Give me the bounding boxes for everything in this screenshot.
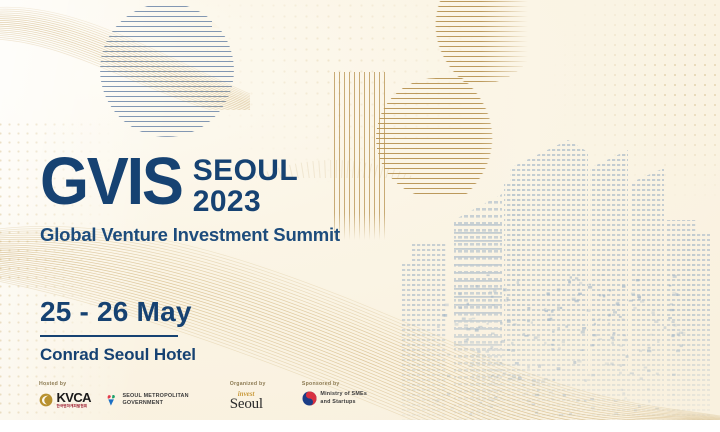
event-dates: 25 - 26 May [40,296,196,328]
event-venue: Conrad Seoul Hotel [40,345,196,365]
headline-block: GVIS SEOUL 2023 Global Venture Investmen… [40,152,340,246]
partner-group-sponsored: Sponsored by Ministry of SMEs and Startu… [302,381,380,406]
kvca-logo: KVCA 한국벤처캐피탈협회 [39,391,91,409]
smg-haechi-icon [104,393,119,407]
seoul-metropolitan-government-logo: SEOUL METROPOLITAN GOVERNMENT [104,393,189,408]
event-city: SEOUL [193,155,298,186]
kvca-wordmark: KVCA [57,391,91,404]
kvca-subtitle: 한국벤처캐피탈협회 [57,405,91,409]
ministry-line-2: and Startups [320,399,367,406]
kvca-swirl-icon [39,393,53,407]
smg-line-2: GOVERNMENT [122,400,188,407]
poster-canvas: GVIS SEOUL 2023 Global Venture Investmen… [0,0,720,420]
partner-group-hosted: Hosted by KVCA 한국벤처캐피탈협회 [39,381,202,409]
partner-strip: Hosted by KVCA 한국벤처캐피탈협회 [39,381,380,412]
event-acronym: GVIS [40,152,182,213]
ministry-of-smes-and-startups-logo: Ministry of SMEs and Startups [302,391,367,406]
event-city-year: SEOUL 2023 [193,155,298,217]
partner-caption-sponsored: Sponsored by [302,381,380,387]
partner-caption-organized: Organized by [230,381,276,387]
event-details-block: 25 - 26 May Conrad Seoul Hotel [40,296,196,365]
taegeuk-icon [302,391,317,406]
event-tagline: Global Venture Investment Summit [40,224,340,246]
smg-line-1: SEOUL METROPOLITAN [122,393,188,400]
partner-caption-hosted: Hosted by [39,381,202,387]
gold-ribbon-waves-top [0,0,260,110]
event-year: 2023 [193,186,298,217]
ministry-line-1: Ministry of SMEs [320,391,367,398]
partner-group-organized: Organized by invest Seoul [230,381,276,412]
gvis-seoul-2023-poster: GVIS SEOUL 2023 Global Venture Investmen… [0,0,720,432]
invest-seoul-wordmark: Seoul [230,397,263,412]
divider-rule [40,335,178,337]
invest-seoul-logo: invest Seoul [230,391,263,412]
